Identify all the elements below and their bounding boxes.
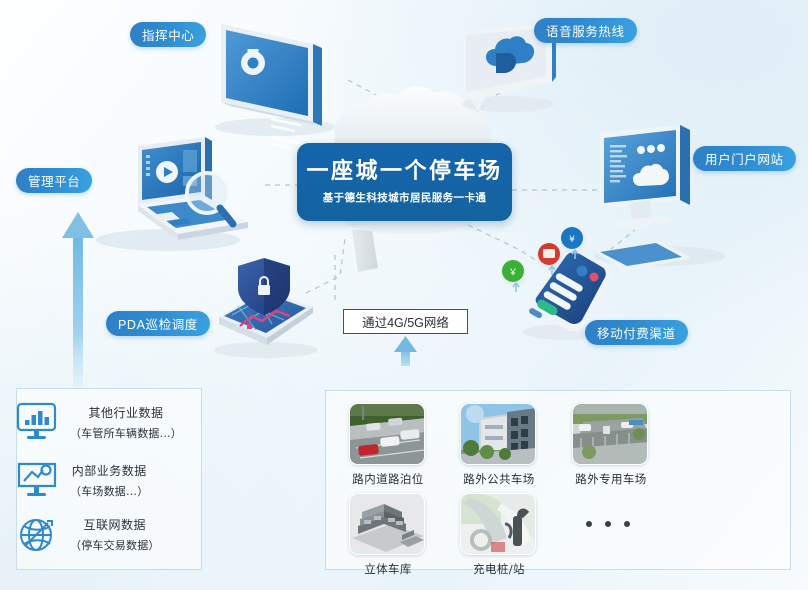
monitor-bar-chart-icon — [14, 400, 60, 444]
thumb-public-lot[interactable] — [460, 403, 536, 465]
data-source-detail: （车场数据…） — [70, 483, 148, 499]
svg-text:￥: ￥ — [508, 268, 517, 278]
data-source-title: 其他行业数据 — [70, 404, 182, 421]
label-management-platform[interactable]: 管理平台 — [16, 168, 92, 193]
data-source-title: 内部业务数据 — [70, 462, 148, 479]
thumb-street-parking[interactable] — [349, 403, 425, 465]
data-source-row[interactable]: 互联网数据 （停车交易数据） — [14, 512, 160, 556]
scene-item[interactable]: 充电桩/站 — [460, 493, 538, 577]
diagram-canvas: ￥ ¥ — [0, 0, 808, 590]
scene-caption: 路内道路泊位 — [349, 471, 427, 487]
scene-item[interactable]: 路外公共车场 — [460, 403, 538, 487]
thumb-charging-station[interactable] — [460, 493, 536, 555]
data-source-row[interactable]: 其他行业数据 （车管所车辆数据…） — [14, 400, 182, 444]
scene-caption: 路外专用车场 — [572, 471, 650, 487]
ellipsis-dot — [605, 521, 611, 527]
label-voice-hotline[interactable]: 语音服务热线 — [534, 18, 637, 43]
central-banner: 一座城一个停车场 基于德生科技城市居民服务一卡通 — [297, 143, 512, 221]
network-type-box: 通过4G/5G网络 — [343, 309, 468, 334]
label-user-portal[interactable]: 用户门户网站 — [693, 146, 796, 171]
ellipsis-dot — [624, 521, 630, 527]
ellipsis-dot — [586, 521, 592, 527]
globe-network-icon — [14, 512, 60, 556]
scene-caption: 路外公共车场 — [460, 471, 538, 487]
svg-text:¥: ¥ — [569, 235, 575, 245]
label-command-center[interactable]: 指挥中心 — [130, 22, 206, 47]
scenes-ellipsis — [586, 521, 630, 527]
scene-item[interactable]: 路内道路泊位 — [349, 403, 427, 487]
data-source-title: 互联网数据 — [70, 516, 160, 533]
network-arrow — [394, 336, 417, 366]
data-source-detail: （停车交易数据） — [70, 537, 160, 553]
banner-title: 一座城一个停车场 — [306, 159, 502, 183]
scene-item[interactable]: 立体车库 — [349, 493, 427, 577]
monitor-line-chart-icon — [14, 458, 60, 502]
left-vertical-arrow — [62, 212, 94, 388]
label-pda-inspection[interactable]: PDA巡检调度 — [106, 311, 210, 336]
thumb-stacked-garage[interactable] — [349, 493, 425, 555]
scene-caption: 立体车库 — [349, 561, 427, 577]
data-source-detail: （车管所车辆数据…） — [70, 425, 182, 441]
label-mobile-payment[interactable]: 移动付费渠道 — [585, 320, 688, 345]
scene-caption: 充电桩/站 — [460, 561, 538, 577]
banner-subtitle: 基于德生科技城市居民服务一卡通 — [323, 190, 487, 205]
thumb-dedicated-lot[interactable] — [572, 403, 648, 465]
scene-item[interactable]: 路外专用车场 — [572, 403, 650, 487]
data-source-row[interactable]: 内部业务数据 （车场数据…） — [14, 458, 148, 502]
